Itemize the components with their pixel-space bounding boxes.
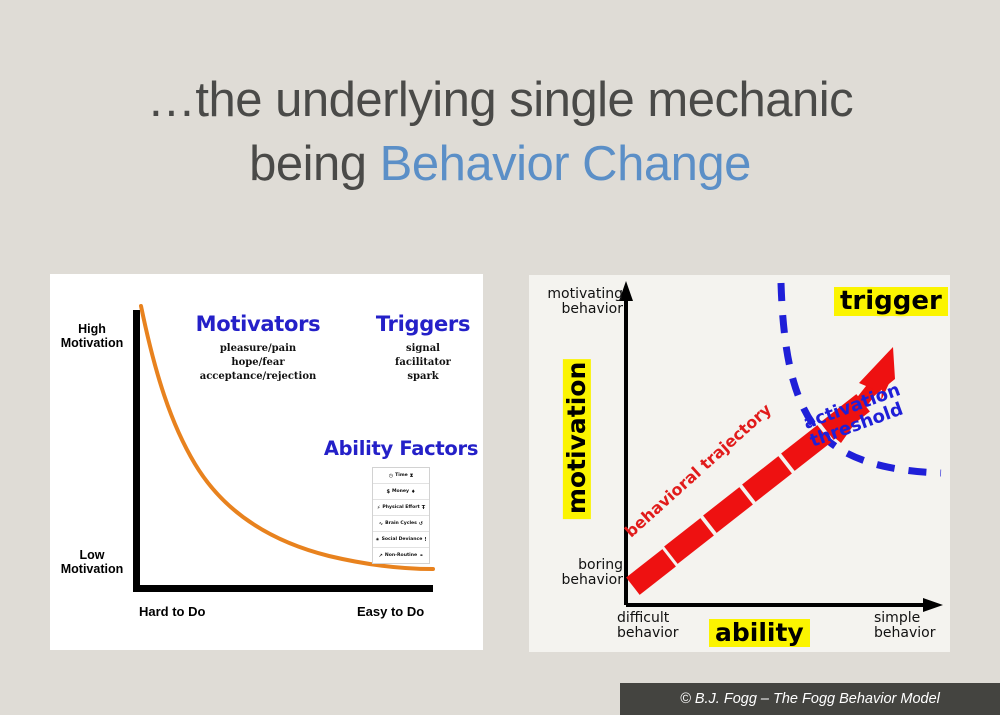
ability-factor-row: ⚡ Physical Effort Ŧ [373,500,429,516]
x-left-line1: difficult [617,611,703,626]
x-left-line2: behavior [617,626,703,641]
ability-factor-row: ◷ Time ⧗ [373,468,429,484]
muscle-icon: ⚡ [377,505,381,511]
triggers-item: signal [368,342,478,356]
ability-factors-box: ◷ Time ⧗ $ Money ♦ ⚡ Physical Effort Ŧ ∿… [372,467,430,564]
left-chart-panel: High Motivation Low Motivation Hard to D… [50,274,483,650]
right-chart-x-axis-title: ability [709,619,810,647]
wave-icon: ∿ [379,521,383,527]
right-chart-x-label-left: difficult behavior [617,611,703,641]
motivators-item: acceptance/rejection [178,370,338,384]
moneybag-icon: ♦ [411,489,415,495]
ability-factor-label: Physical Effort [382,505,419,510]
ability-factor-row: ↗ Non-Routine ⚭ [373,548,429,563]
left-chart-y-label-low: Low Motivation [53,548,131,576]
people-icon: ✷ [375,537,379,543]
alert-icon: ! [424,537,426,543]
clock-icon: ◷ [389,473,393,479]
right-chart-graphics [529,275,950,652]
ability-factor-label: Brain Cycles [385,521,417,526]
attribution-caption: © B.J. Fogg – The Fogg Behavior Model [620,683,1000,715]
y-bottom-line1: boring [537,558,623,573]
right-chart-x-label-right: simple behavior [874,611,950,641]
y-label-high-line2: Motivation [53,336,131,350]
right-chart-y-axis-title: motivation [563,359,591,519]
title-line-1: …the underlying single mechanic [0,68,1000,132]
hourglass-icon: ⧗ [410,473,414,479]
page-title: …the underlying single mechanic being Be… [0,68,1000,196]
y-top-line1: motivating [537,287,623,302]
left-chart-heading-triggers: Triggers [368,312,478,336]
weight-icon: Ŧ [422,505,425,511]
motivators-item: hope/fear [178,356,338,370]
triggers-item: spark [368,370,478,384]
y-bottom-line2: behavior [537,573,623,588]
ability-factor-label: Social Deviance [382,537,423,542]
left-chart-motivators-list: pleasure/pain hope/fear acceptance/rejec… [178,342,338,384]
ability-factor-label: Money [392,489,409,494]
dollar-icon: $ [386,489,389,495]
y-label-low-line1: Low [53,548,131,562]
left-chart-heading-ability-factors: Ability Factors [318,437,483,460]
left-chart-x-label-right: Easy to Do [357,604,424,619]
triggers-item: facilitator [368,356,478,370]
link-icon: ⚭ [419,553,423,559]
y-label-high-line1: High [53,322,131,336]
left-chart-heading-motivators: Motivators [178,312,338,336]
right-chart-panel: motivating behavior boring behavior diff… [529,275,950,652]
title-line-2: being Behavior Change [0,132,1000,196]
path-icon: ↗ [379,553,383,559]
recycle-icon: ↺ [419,521,423,527]
trigger-label: trigger [834,287,948,316]
x-right-line2: behavior [874,626,950,641]
ability-factor-label: Time [395,473,408,478]
left-chart-y-label-high: High Motivation [53,322,131,350]
motivators-item: pleasure/pain [178,342,338,356]
ability-factor-row: ✷ Social Deviance ! [373,532,429,548]
title-line-2-plain: being [249,137,380,191]
title-line-2-accent: Behavior Change [380,137,751,191]
left-chart-triggers-list: signal facilitator spark [368,342,478,384]
y-label-low-line2: Motivation [53,562,131,576]
right-chart-y-label-top: motivating behavior [537,287,623,317]
ability-factor-row: $ Money ♦ [373,484,429,500]
right-chart-y-label-bottom: boring behavior [537,558,623,588]
y-top-line2: behavior [537,302,623,317]
ability-factor-label: Non-Routine [385,553,417,558]
left-chart-x-label-left: Hard to Do [139,604,205,619]
x-right-line1: simple [874,611,950,626]
ability-factor-row: ∿ Brain Cycles ↺ [373,516,429,532]
